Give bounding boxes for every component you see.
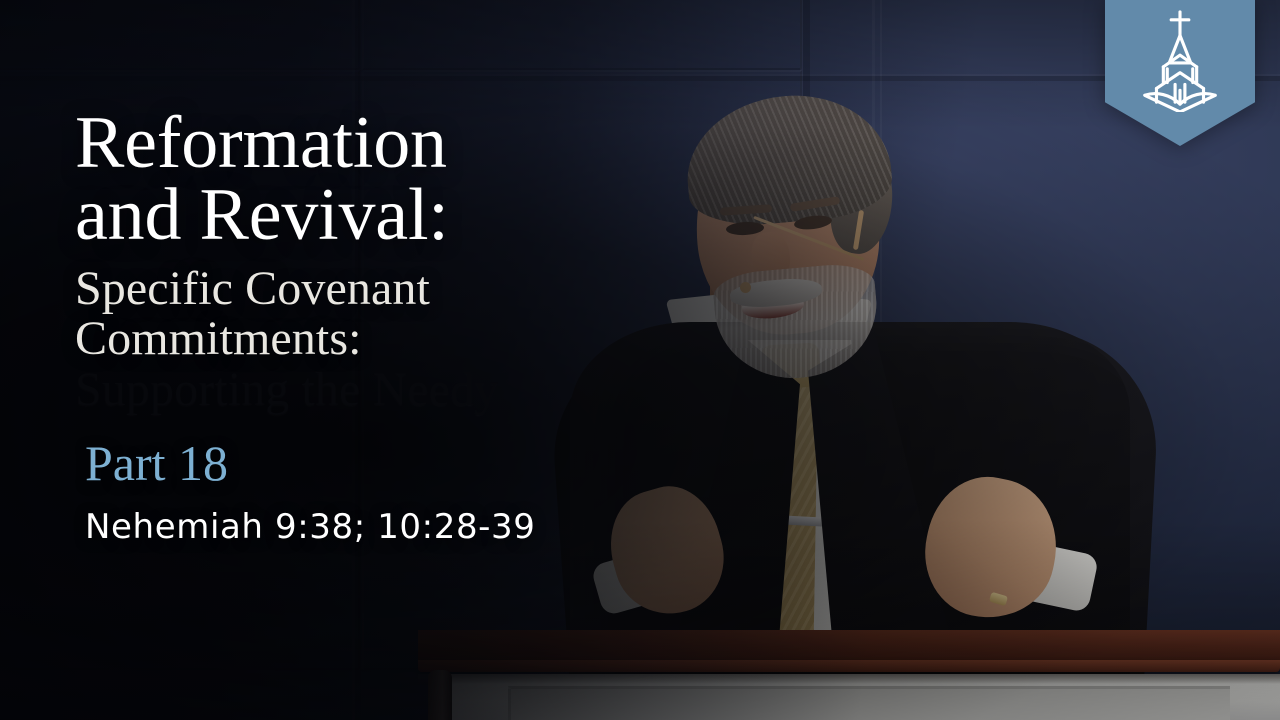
title-text-block: Reformation and Revival: Specific Covena… (75, 108, 715, 544)
church-steeple-book-icon (1131, 8, 1229, 112)
part-label: Part 18 (85, 438, 715, 488)
subtitle-line-3: Supporting the Needy (75, 365, 715, 416)
logo-badge (1105, 0, 1255, 146)
sermon-title-slide: Reformation and Revival: Specific Covena… (0, 0, 1280, 720)
page-title: Reformation and Revival: (75, 108, 715, 252)
subtitle-line-1: Specific Covenant (75, 264, 715, 315)
scripture-reference: Nehemiah 9:38; 10:28-39 (85, 510, 715, 544)
title-line-2: and Revival: (75, 180, 715, 252)
subtitle-line-2: Commitments: (75, 314, 715, 365)
subtitle: Specific Covenant Commitments: Supportin… (75, 264, 715, 417)
title-line-1: Reformation (75, 108, 715, 180)
